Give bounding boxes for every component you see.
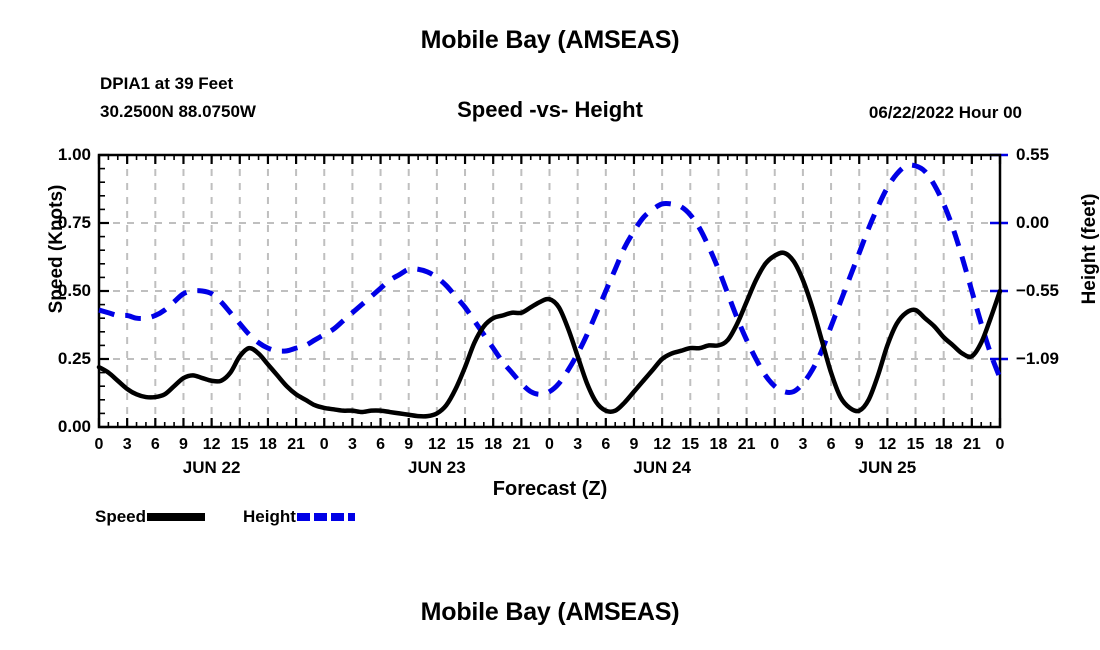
y-axis-label-right: Height (feet) — [1079, 149, 1100, 349]
x-tick-label: 18 — [259, 436, 277, 454]
y-tick-label-right: −1.09 — [1016, 349, 1086, 369]
x-tick-label: 0 — [545, 436, 554, 454]
y-tick-label-left: 0.25 — [31, 349, 91, 369]
grid-layer — [99, 155, 1000, 427]
x-tick-label: 9 — [855, 436, 864, 454]
legend-swatch-height-icon — [297, 513, 355, 521]
x-tick-label: 12 — [653, 436, 671, 454]
x-tick-label: 0 — [320, 436, 329, 454]
y-tick-label-left: 1.00 — [31, 145, 91, 165]
x-tick-label: 18 — [710, 436, 728, 454]
x-axis-day-label: JUN 24 — [633, 458, 691, 478]
x-tick-label: 15 — [456, 436, 474, 454]
y-tick-label-right: 0.00 — [1016, 213, 1086, 233]
y-tick-label-left: 0.75 — [31, 213, 91, 233]
x-tick-label: 0 — [996, 436, 1005, 454]
x-tick-label: 9 — [630, 436, 639, 454]
footer-title: Mobile Bay (AMSEAS) — [0, 598, 1100, 627]
x-tick-label: 0 — [95, 436, 104, 454]
x-tick-label: 21 — [963, 436, 981, 454]
x-tick-label: 12 — [878, 436, 896, 454]
x-tick-label: 21 — [287, 436, 305, 454]
x-tick-label: 3 — [573, 436, 582, 454]
x-tick-label: 15 — [907, 436, 925, 454]
x-tick-label: 12 — [203, 436, 221, 454]
chart-page: Mobile Bay (AMSEAS) DPIA1 at 39 Feet 30.… — [0, 0, 1100, 650]
y-axis-label-left: Speed (Knots) — [46, 149, 68, 349]
y-tick-label-left: 0.00 — [31, 417, 91, 437]
x-tick-label: 6 — [376, 436, 385, 454]
y-tick-label-left: 0.50 — [31, 281, 91, 301]
x-tick-label: 18 — [935, 436, 953, 454]
x-tick-label: 9 — [404, 436, 413, 454]
legend-swatch-speed-icon — [147, 513, 205, 521]
x-tick-label: 9 — [179, 436, 188, 454]
x-axis-day-label: JUN 25 — [859, 458, 917, 478]
x-axis-label: Forecast (Z) — [0, 478, 1100, 501]
x-tick-label: 21 — [738, 436, 756, 454]
x-tick-label: 12 — [428, 436, 446, 454]
legend-label-height: Height — [243, 507, 296, 527]
x-tick-label: 6 — [827, 436, 836, 454]
x-tick-label: 6 — [601, 436, 610, 454]
y-tick-label-right: 0.55 — [1016, 145, 1086, 165]
chart-svg — [0, 0, 1100, 650]
x-tick-label: 6 — [151, 436, 160, 454]
x-axis-day-label: JUN 23 — [408, 458, 466, 478]
legend-item-height: Height — [243, 507, 355, 527]
chart-legend: Speed Height — [95, 506, 355, 528]
y-tick-label-right: −0.55 — [1016, 281, 1086, 301]
x-tick-label: 0 — [770, 436, 779, 454]
x-tick-label: 18 — [484, 436, 502, 454]
x-tick-label: 21 — [512, 436, 530, 454]
x-tick-label: 15 — [231, 436, 249, 454]
x-tick-label: 3 — [798, 436, 807, 454]
legend-item-speed: Speed — [95, 507, 205, 527]
x-tick-label: 3 — [123, 436, 132, 454]
x-axis-day-label: JUN 22 — [183, 458, 241, 478]
x-tick-label: 15 — [681, 436, 699, 454]
plot-area — [0, 0, 1100, 650]
x-tick-label: 3 — [348, 436, 357, 454]
legend-label-speed: Speed — [95, 507, 146, 527]
